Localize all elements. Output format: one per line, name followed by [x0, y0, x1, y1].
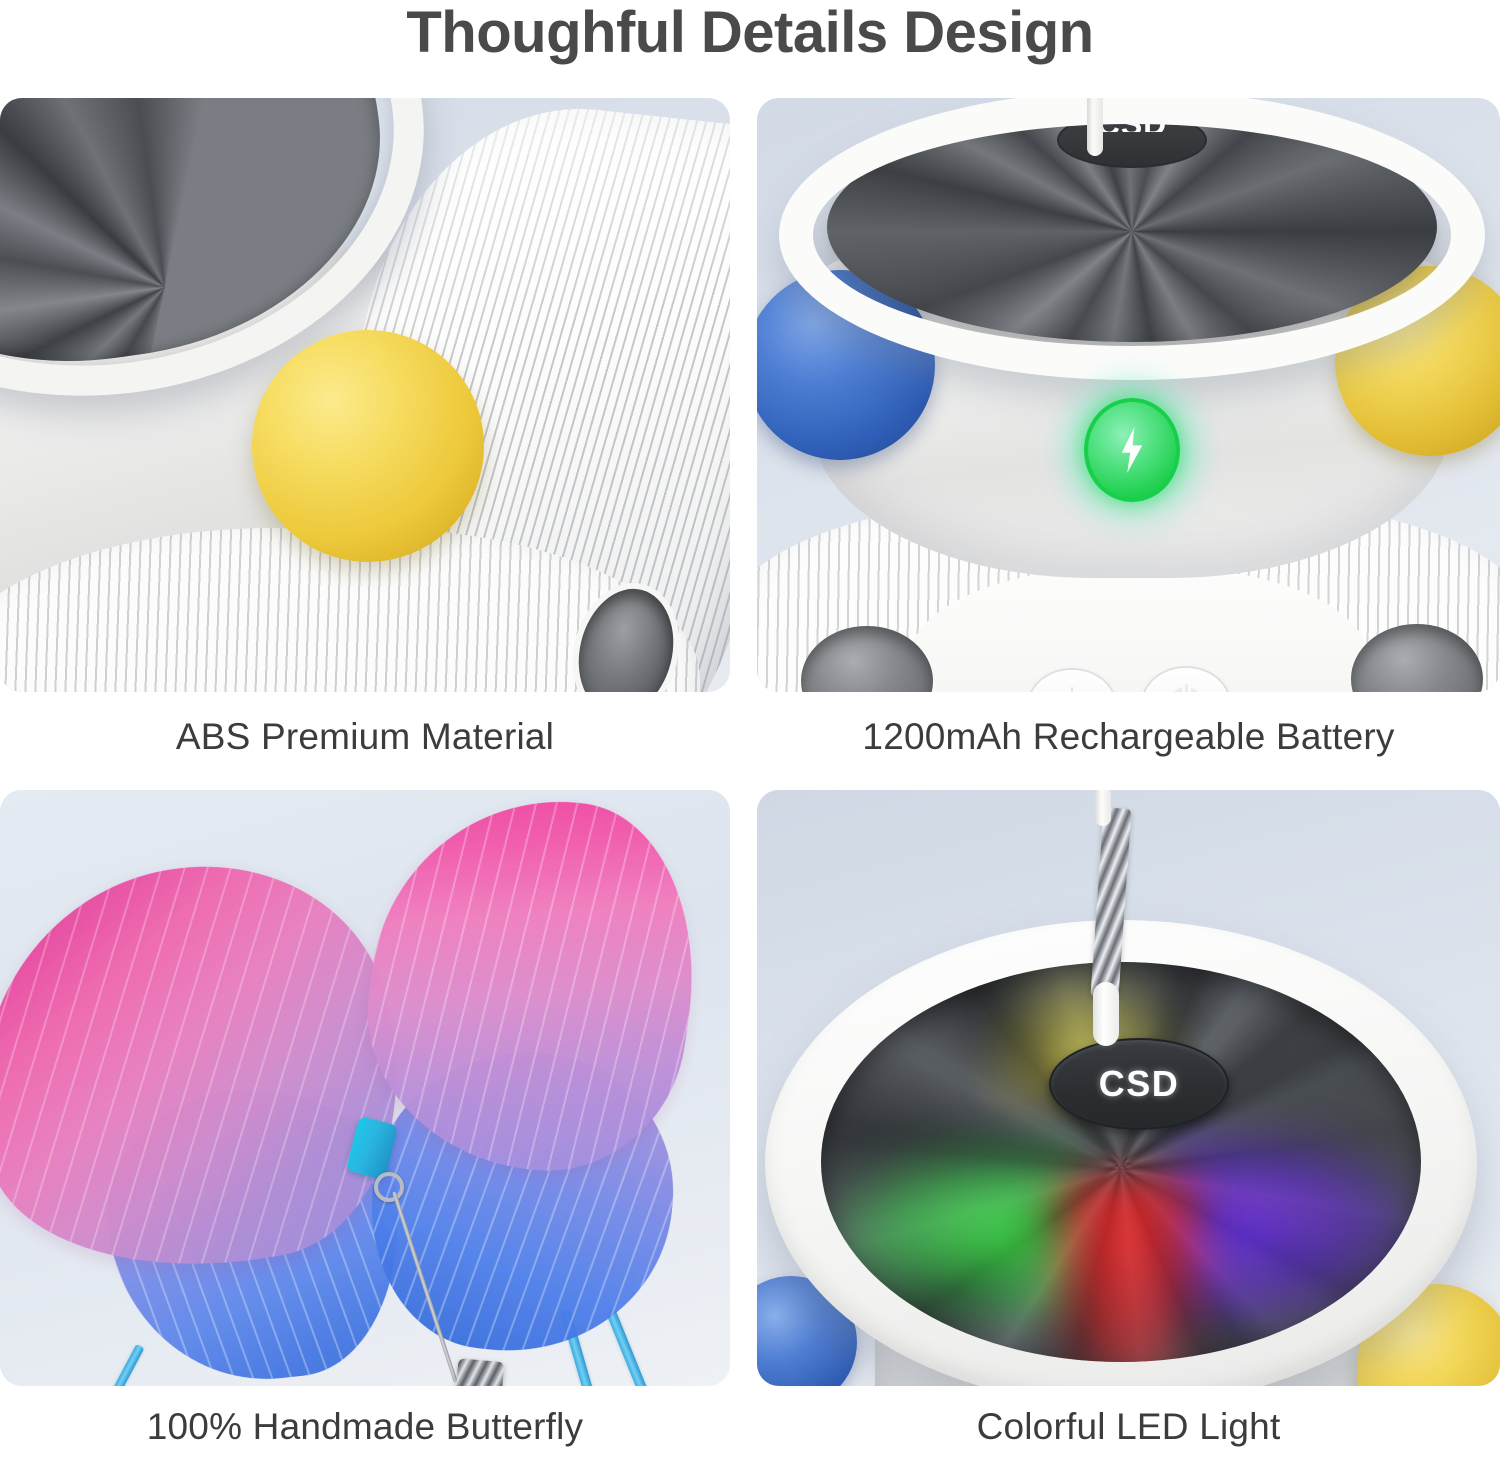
- panel-abs-premium-material: [0, 98, 730, 692]
- turntable-disc: [821, 962, 1421, 1362]
- yellow-ball: [252, 330, 484, 562]
- turntable-rim: [779, 98, 1485, 380]
- fan-blade-pattern: [821, 962, 1421, 1362]
- wand-stem: [1087, 98, 1103, 156]
- power-icon: [1169, 687, 1203, 692]
- infographic-page: Thoughful Details Design ABS Premium Mat…: [0, 0, 1500, 1462]
- caption-rechargeable-battery: 1200mAh Rechargeable Battery: [757, 716, 1500, 758]
- caption-colorful-led-light: Colorful LED Light: [757, 1406, 1500, 1448]
- caption-handmade-butterfly: 100% Handmade Butterfly: [0, 1406, 730, 1448]
- panel-handmade-butterfly: [0, 790, 730, 1386]
- turntable-hub: CSD: [1049, 1038, 1229, 1130]
- spring-socket: [1093, 982, 1119, 1046]
- panel-colorful-led-light: CSD: [757, 790, 1500, 1386]
- brand-logo-csd: CSD: [1099, 1063, 1180, 1105]
- page-title: Thoughful Details Design: [0, 0, 1500, 68]
- lightning-bolt-icon: [1117, 427, 1147, 473]
- wand-tip: [1095, 790, 1111, 826]
- attachment-ring: [374, 1172, 404, 1202]
- sun-icon: [1052, 686, 1092, 692]
- caption-abs-premium-material: ABS Premium Material: [0, 716, 730, 758]
- charging-indicator: [1084, 398, 1180, 502]
- panel-rechargeable-battery: CSD: [757, 98, 1500, 692]
